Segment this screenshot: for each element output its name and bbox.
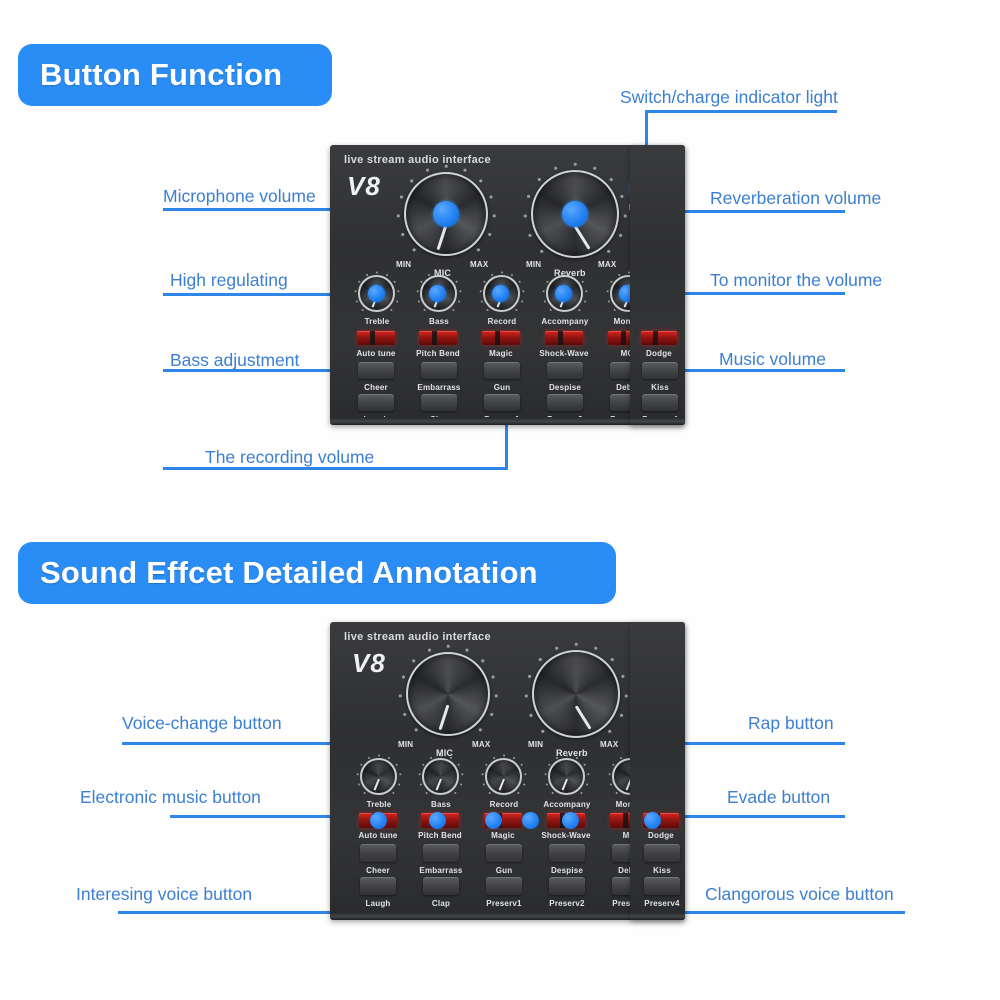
annotation-recording-volume: The recording volume — [205, 449, 374, 467]
annotation-clangorous-voice-button: Clangorous voice button — [705, 886, 894, 904]
knob-tick — [539, 658, 542, 661]
mic-knob-cap[interactable] — [433, 201, 459, 227]
knob-tick — [618, 273, 620, 275]
record-knob-cap[interactable] — [492, 285, 509, 302]
knob-tick — [518, 280, 520, 282]
knob-tick — [584, 300, 586, 302]
knob-tick — [480, 300, 482, 302]
knob-tick — [356, 773, 358, 775]
knob-tick — [621, 675, 624, 678]
knob-tick — [423, 308, 425, 310]
knob-tick — [606, 290, 608, 292]
knob-tick — [581, 280, 583, 282]
section-badge-sound-effect: Sound Effcet Detailed Annotation — [18, 542, 616, 604]
knob-tick — [594, 647, 597, 650]
knob-tick — [449, 756, 451, 758]
device-model-text: V8 — [347, 171, 381, 202]
knob-tick — [458, 300, 460, 302]
device-2-bass-knob[interactable] — [422, 758, 459, 795]
knob-tick — [447, 645, 450, 648]
annotation-music-volume: Music volume — [719, 351, 826, 369]
device-2-led-label-shock-wave: Shock-Wave — [538, 831, 594, 840]
device-2-record-label: Record — [486, 800, 522, 809]
knob-tick — [354, 290, 356, 292]
knob-tick — [466, 649, 469, 652]
knob-tick — [390, 308, 392, 310]
knob-tick — [610, 178, 613, 181]
knob-tick — [521, 300, 523, 302]
reverb-min-label: MIN — [526, 260, 541, 269]
knob-tick — [459, 290, 461, 292]
knob-tick — [495, 694, 498, 697]
grey-label-embarrass: Embarrass — [412, 383, 466, 392]
knob-tick — [445, 165, 448, 168]
knob-tick — [620, 756, 622, 758]
device-brand-text: live stream audio interface — [344, 154, 491, 166]
grey-label-preserv4: Preserv4 — [638, 415, 682, 424]
knob-tick — [512, 756, 514, 758]
grey-button-preserv1[interactable] — [484, 394, 520, 411]
device-2-accompany-knob[interactable] — [548, 758, 585, 795]
grey-label-gun: Gun — [484, 383, 520, 392]
knob-tick — [515, 308, 517, 310]
knob-tick — [481, 773, 483, 775]
knob-tick — [556, 756, 558, 758]
annotation-high-regulating: High regulating — [170, 272, 288, 290]
device-2-record-knob[interactable] — [485, 758, 522, 795]
knob-tick — [460, 783, 462, 785]
knob-tick — [548, 763, 550, 765]
knob-tick — [503, 754, 505, 756]
grey-label-preserv1: Preserv1 — [480, 415, 524, 424]
knob-tick — [461, 773, 463, 775]
record-label: Record — [484, 317, 520, 326]
knob-tick — [587, 773, 589, 775]
device-2-mic-min-label: MIN — [398, 740, 413, 749]
knob-tick — [428, 273, 430, 275]
device-2-mic-knob[interactable] — [406, 652, 490, 736]
knob-tick — [422, 763, 424, 765]
device-2-led-label-auto-tune: Auto tune — [354, 831, 402, 840]
knob-tick — [555, 647, 558, 650]
grey-label-clap: Clap — [421, 415, 457, 424]
knob-tick — [378, 754, 380, 756]
knob-tick — [440, 754, 442, 756]
grey-button-laugh[interactable] — [358, 394, 394, 411]
device-2-grey-label-cheer: Cheer — [360, 866, 396, 875]
device-2-reverb-max-label: MAX — [600, 740, 618, 749]
knob-tick — [366, 273, 368, 275]
device-2-grey-label-gun: Gun — [486, 866, 522, 875]
knob-tick — [566, 754, 568, 756]
device-2-grey-button-kiss[interactable] — [644, 844, 680, 862]
knob-tick — [490, 713, 493, 716]
knob-tick — [376, 271, 378, 273]
device-2-reverb-knob-pointer — [575, 705, 592, 729]
knob-tick — [419, 783, 421, 785]
device-2-grey-label-laugh: Laugh — [360, 899, 396, 908]
knob-tick — [611, 658, 614, 661]
device-2-mic-max-label: MAX — [472, 740, 490, 749]
knob-tick — [477, 248, 480, 251]
device-2-reverb-knob[interactable] — [532, 650, 620, 738]
leader-switch-indicator-horizontal — [645, 110, 837, 113]
knob-tick — [457, 763, 459, 765]
knob-tick — [455, 280, 457, 282]
annotation-switch-charge-indicator: Switch/charge indicator light — [620, 89, 838, 107]
grey-label-cheer: Cheer — [358, 383, 394, 392]
marker-dodge — [644, 812, 661, 829]
knob-tick — [428, 649, 431, 652]
device-2-grey-button-cheer[interactable] — [360, 844, 396, 862]
device-2-grey-button-preserv4[interactable] — [644, 877, 680, 895]
knob-tick — [420, 280, 422, 282]
knob-tick — [551, 791, 553, 793]
leader-recording-volume-horizontal — [163, 467, 508, 470]
grey-button-embarrass[interactable] — [421, 362, 457, 379]
reverb-knob-pointer — [574, 225, 591, 249]
knob-tick — [393, 280, 395, 282]
knob-tick — [425, 791, 427, 793]
annotation-interesing-voice-button: Interesing voice button — [76, 886, 252, 904]
device-2-grey-label-kiss: Kiss — [644, 866, 680, 875]
device-2-grey-button-gun[interactable] — [486, 844, 522, 862]
annotation-microphone-volume: Microphone volume — [163, 188, 316, 206]
knob-tick — [610, 280, 612, 282]
accompany-label: Accompany — [541, 317, 589, 326]
knob-tick — [543, 300, 545, 302]
annotation-monitor-volume: To monitor the volume — [710, 272, 882, 290]
marker-magic — [485, 812, 502, 829]
knob-tick — [624, 214, 627, 217]
knob-tick — [525, 694, 528, 697]
device-2-accompany-label: Accompany — [543, 800, 591, 809]
knob-tick — [527, 195, 530, 198]
knob-tick — [546, 280, 548, 282]
knob-tick — [399, 773, 401, 775]
led-label-magic: Magic — [482, 349, 520, 358]
knob-tick — [542, 290, 544, 292]
knob-tick — [575, 756, 577, 758]
knob-tick — [415, 728, 418, 731]
knob-tick — [417, 300, 419, 302]
device-2-grey-label-despise: Despise — [543, 866, 591, 875]
knob-tick — [608, 730, 611, 733]
knob-tick — [607, 250, 610, 253]
device-2-bass-label: Bass — [424, 800, 458, 809]
device-2-bass-pointer — [435, 779, 441, 791]
knob-tick — [538, 178, 541, 181]
knob-tick — [447, 273, 449, 275]
knob-tick — [493, 756, 495, 758]
knob-tick — [607, 300, 609, 302]
audio-interface-device-2-right-column: Dodge Kiss Preserv4 — [630, 622, 685, 920]
knob-tick — [392, 791, 394, 793]
knob-tick — [479, 728, 482, 731]
knob-tick — [400, 196, 403, 199]
knob-tick — [541, 730, 544, 733]
knob-tick — [363, 791, 365, 793]
knob-tick — [493, 214, 496, 217]
knob-tick — [549, 308, 551, 310]
knob-tick — [564, 271, 566, 273]
knob-tick — [540, 250, 543, 253]
knob-tick — [625, 694, 628, 697]
device-2-grey-label-preserv2: Preserv2 — [545, 899, 589, 908]
knob-tick — [528, 234, 531, 237]
led-label-auto-tune: Auto tune — [352, 349, 400, 358]
knob-tick — [554, 273, 556, 275]
device-2-grey-button-despise[interactable] — [549, 844, 585, 862]
device-2-grey-label-embarrass: Embarrass — [414, 866, 468, 875]
knob-tick — [608, 773, 610, 775]
grey-button-kiss[interactable] — [642, 362, 678, 379]
knob-tick — [524, 773, 526, 775]
marker-shock-wave — [522, 812, 539, 829]
annotation-electronic-music-button: Electronic music button — [80, 789, 261, 807]
led-button-shock-wave[interactable] — [545, 331, 583, 345]
knob-tick — [612, 763, 614, 765]
knob-tick — [510, 273, 512, 275]
knob-tick — [387, 756, 389, 758]
knob-tick — [615, 791, 617, 793]
knob-tick — [492, 676, 495, 679]
reverb-knob-cap[interactable] — [562, 201, 588, 227]
knob-tick — [490, 196, 493, 199]
grey-label-laugh: Laugh — [358, 415, 394, 424]
grey-label-despise: Despise — [541, 383, 589, 392]
device-2-grey-button-preserv1[interactable] — [486, 877, 522, 895]
device-2-grey-button-laugh[interactable] — [360, 877, 396, 895]
led-label-pitch-bend: Pitch Bend — [414, 349, 462, 358]
annotation-evade-button: Evade button — [727, 789, 830, 807]
device-2-brand-text: live stream audio interface — [344, 631, 491, 643]
device-2-grey-button-embarrass[interactable] — [423, 844, 459, 862]
bass-label: Bass — [422, 317, 456, 326]
knob-tick — [418, 773, 420, 775]
led-button-magic[interactable] — [482, 331, 520, 345]
knob-tick — [464, 169, 467, 172]
knob-tick — [523, 783, 525, 785]
knob-tick — [412, 659, 415, 662]
knob-tick — [491, 273, 493, 275]
knob-tick — [483, 280, 485, 282]
knob-tick — [401, 233, 404, 236]
knob-tick — [399, 694, 402, 697]
knob-tick — [485, 763, 487, 765]
knob-tick — [454, 791, 456, 793]
marker-mc — [562, 812, 579, 829]
knob-tick — [413, 248, 416, 251]
knob-tick — [479, 290, 481, 292]
knob-tick — [368, 756, 370, 758]
knob-tick — [488, 233, 491, 236]
bass-knob-cap[interactable] — [429, 285, 446, 302]
annotation-bass-adjustment: Bass adjustment — [170, 352, 299, 370]
audio-interface-device-1-right-column: Dodge Kiss Preserv4 — [630, 145, 685, 425]
knob-tick — [398, 783, 400, 785]
knob-tick — [501, 271, 503, 273]
knob-tick — [580, 791, 582, 793]
knob-tick — [619, 234, 622, 237]
device-2-mic-knob-pointer — [439, 705, 450, 730]
knob-tick — [522, 290, 524, 292]
knob-tick — [586, 783, 588, 785]
knob-tick — [385, 273, 387, 275]
device-2-grey-label-preserv4: Preserv4 — [640, 899, 684, 908]
annotation-voice-change-button: Voice-change button — [122, 715, 282, 733]
knob-tick — [397, 290, 399, 292]
mic-knob-pointer — [437, 225, 448, 250]
knob-tick — [520, 763, 522, 765]
knob-tick — [481, 659, 484, 662]
grey-button-despise[interactable] — [547, 362, 583, 379]
grey-button-preserv4[interactable] — [642, 394, 678, 411]
knob-tick — [583, 763, 585, 765]
device-2-grey-label-preserv1: Preserv1 — [482, 899, 526, 908]
knob-tick — [361, 308, 363, 310]
device-2-grey-button-preserv2[interactable] — [549, 877, 585, 895]
device-2-model-text: V8 — [352, 648, 386, 679]
device-2-grey-label-clap: Clap — [423, 899, 459, 908]
knob-tick — [528, 675, 531, 678]
device-2-accompany-pointer — [561, 779, 567, 791]
knob-tick — [544, 773, 546, 775]
knob-tick — [402, 676, 405, 679]
led-label-dodge: Dodge — [639, 349, 679, 358]
grey-label-preserv2: Preserv2 — [543, 415, 587, 424]
mic-min-label: MIN — [396, 260, 411, 269]
knob-tick — [609, 783, 611, 785]
device-2-treble-label: Treble — [362, 800, 396, 809]
knob-tick — [430, 756, 432, 758]
knob-tick — [488, 791, 490, 793]
device-2-treble-knob[interactable] — [360, 758, 397, 795]
treble-knob-cap[interactable] — [368, 285, 385, 302]
grey-label-kiss: Kiss — [642, 383, 678, 392]
knob-tick — [396, 300, 398, 302]
grey-button-preserv2[interactable] — [547, 394, 583, 411]
device-2-led-label-magic: Magic — [484, 831, 522, 840]
knob-tick — [395, 763, 397, 765]
knob-tick — [397, 214, 400, 217]
knob-tick — [613, 308, 615, 310]
knob-tick — [452, 308, 454, 310]
knob-tick — [578, 308, 580, 310]
grey-button-clap[interactable] — [421, 394, 457, 411]
device-2-reverb-min-label: MIN — [528, 740, 543, 749]
knob-tick — [358, 280, 360, 282]
annotation-rap-button: Rap button — [748, 715, 834, 733]
grey-button-gun[interactable] — [484, 362, 520, 379]
knob-tick — [410, 179, 413, 182]
knob-tick — [486, 308, 488, 310]
knob-tick — [403, 713, 406, 716]
marker-auto-tune — [370, 812, 387, 829]
led-label-shock-wave: Shock-Wave — [536, 349, 592, 358]
knob-tick — [438, 271, 440, 273]
device-2-led-label-pitch-bend: Pitch Bend — [416, 831, 464, 840]
knob-tick — [620, 195, 623, 198]
knob-tick — [360, 763, 362, 765]
knob-tick — [545, 783, 547, 785]
led-button-auto-tune[interactable] — [357, 331, 395, 345]
accompany-knob-cap[interactable] — [555, 285, 572, 302]
annotation-reverberation-volume: Reverberation volume — [710, 190, 881, 208]
knob-tick — [593, 167, 596, 170]
knob-tick — [529, 714, 532, 717]
device-2-treble-pointer — [373, 779, 379, 791]
mic-max-label: MAX — [470, 260, 488, 269]
section-badge-button-function: Button Function — [18, 44, 332, 106]
knob-tick — [524, 214, 527, 217]
led-button-pitch-bend[interactable] — [419, 331, 457, 345]
knob-tick — [620, 714, 623, 717]
marker-pitch-bend — [429, 812, 446, 829]
knob-tick — [575, 643, 578, 646]
grey-button-cheer[interactable] — [358, 362, 394, 379]
device-2-record-pointer — [498, 779, 504, 791]
knob-tick — [573, 273, 575, 275]
knob-tick — [479, 179, 482, 182]
knob-tick — [554, 167, 557, 170]
knob-tick — [357, 783, 359, 785]
knob-tick — [517, 791, 519, 793]
knob-tick — [482, 783, 484, 785]
device-2-led-label-dodge: Dodge — [641, 831, 681, 840]
reverb-max-label: MAX — [598, 260, 616, 269]
product-infographic-page: Button Function Microphone volume High r… — [0, 0, 1000, 1000]
knob-tick — [355, 300, 357, 302]
knob-tick — [574, 163, 577, 166]
knob-tick — [585, 290, 587, 292]
device-2-grey-button-clap[interactable] — [423, 877, 459, 895]
knob-tick — [426, 169, 429, 172]
treble-label: Treble — [360, 317, 394, 326]
knob-tick — [416, 290, 418, 292]
led-button-dodge[interactable] — [641, 331, 677, 345]
